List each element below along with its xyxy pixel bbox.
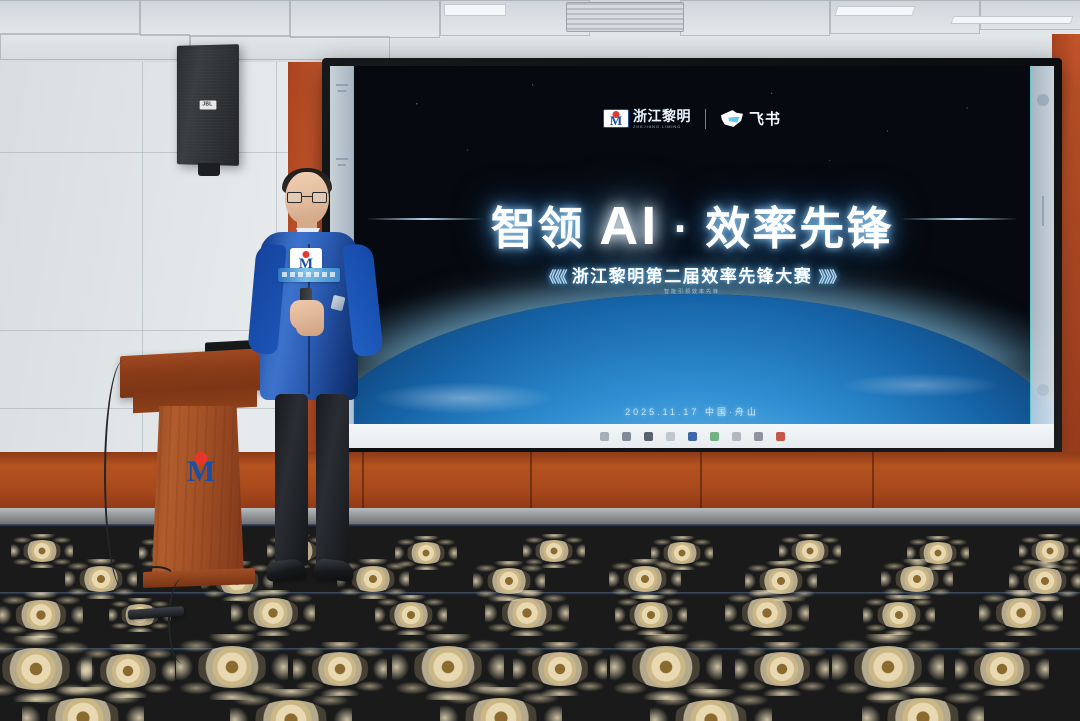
ceiling-light [834,6,915,16]
carpet-medallion [972,652,1032,686]
m-mark-icon [603,109,629,128]
brand-name-en: ZHEJIANG LIMING [633,125,691,129]
carpet-medallion [500,598,554,628]
carpet-medallion [622,566,668,592]
carpet-medallion [630,646,702,688]
name-badge [278,268,340,282]
star-icon[interactable] [666,432,675,441]
ceiling-tile [290,0,440,38]
settings-icon[interactable] [754,432,763,441]
glasses-bridge [302,196,312,197]
carpet-medallion [22,540,62,562]
carpet-medallion [876,602,922,628]
display-right-sidebar[interactable] [1030,66,1054,424]
carpet-medallion [894,566,940,592]
carpet-medallion [628,602,674,628]
slide-subtitle-mini: 智能引领效率先锋 [330,288,1054,295]
feishu-name: 飞书 [749,108,781,129]
floor-cable [168,578,198,664]
carpet-medallion [740,598,794,628]
ceiling-tile [140,0,290,36]
browser-icon[interactable] [710,432,719,441]
slide-subtitle: 浙江黎明第二届效率先锋大赛 [572,267,813,286]
carpet-medallion [790,540,830,562]
floor-wire-loop [136,566,176,590]
menu-icon[interactable] [337,90,346,92]
jbl-speaker: JBL [177,44,239,166]
carpet-medallion [852,646,924,688]
carpet-medallion [252,700,330,721]
wood-grain [152,406,244,574]
pen-icon[interactable] [622,432,631,441]
note-icon[interactable] [644,432,653,441]
carpet-medallion [44,698,122,721]
scroll-handle[interactable] [1042,196,1044,226]
display-taskbar[interactable] [330,424,1054,448]
title-ai: AI [599,196,659,256]
wall-seam [0,152,330,153]
wainscot-seam [872,452,874,514]
slide-logo-row: 浙江黎明 ZHEJIANG LIMING 飞书 [330,108,1054,129]
ceiling-tile [0,34,190,60]
glasses-lens-left [287,192,302,203]
carpet-medallion [0,648,72,690]
glasses-lens-right [312,192,327,203]
presentation-slide: 浙江黎明 ZHEJIANG LIMING 飞书 智领 AI · 效率先锋 [330,66,1054,448]
zhejiang-liming-logo: 浙江黎明 ZHEJIANG LIMING [603,109,691,129]
menu-icon[interactable] [336,84,348,86]
back-icon[interactable] [336,158,348,160]
audio-cable [104,360,144,590]
back-icon[interactable] [338,164,346,166]
carpet-medallion [1030,540,1070,562]
glasses [287,192,327,203]
slide-subtitle-row: 《《《 浙江黎明第二届效率先锋大赛 》》》 [330,262,1054,287]
carpet-medallion [196,646,268,688]
speaker-mount-bracket [198,163,220,176]
hand-lower [296,312,324,336]
podium-body [152,406,244,574]
carpet-medallion [388,602,434,628]
carpet-medallion [884,698,962,721]
led-display-screen[interactable]: 浙江黎明 ZHEJIANG LIMING 飞书 智领 AI · 效率先锋 [330,66,1054,448]
wainscot-seam [530,452,532,514]
carpet-medallion [462,698,540,721]
carpet-medallion [530,652,590,686]
ceiling-tile [680,0,830,36]
slide-date-location: 2025.11.17 中国·舟山 [330,405,1054,418]
ceiling-light [444,4,506,16]
leg-left [275,394,308,566]
slide-title: 智领 AI · 效率先锋 [330,192,1054,257]
carpet-medallion [412,646,484,688]
title-part-1: 智领 [491,203,585,254]
title-dot: · [674,203,691,254]
podium-logo: M [178,452,224,486]
wainscot-seam [700,452,702,514]
carpet-medallion [310,652,370,686]
ceiling-air-vent [566,2,684,32]
cursor-icon[interactable] [600,432,609,441]
conference-room-photo: JBL 浙江黎明 ZHEJIANG LIMING [0,0,1080,721]
ceiling-light [950,16,1073,24]
jbl-logo: JBL [199,100,216,109]
record-icon[interactable] [776,432,785,441]
carpet-medallion [752,652,812,686]
logo-divider [705,109,706,129]
feishu-bird-icon [720,109,744,129]
carpet-medallion [994,598,1048,628]
carpet-medallion [534,540,574,562]
app-icon[interactable] [688,432,697,441]
presenter: M [240,172,388,632]
logo-m-letter: M [178,458,224,486]
brand-name-cn: 浙江黎明 [633,109,691,123]
power-icon[interactable] [1037,94,1049,106]
feishu-logo: 飞书 [720,108,781,129]
ceiling-tile [980,0,1080,30]
title-part-2: 效率先锋 [705,203,893,254]
ceiling-tile [0,0,140,34]
carpet-medallion [406,542,446,564]
carpet-medallion [672,700,750,721]
leg-right [316,394,349,566]
trousers [274,394,350,566]
chevrons-right: 》》》 [818,269,842,286]
clock-icon[interactable] [732,432,741,441]
warning-icon[interactable] [1037,384,1049,396]
carpet-medallion [14,600,68,630]
carpet-medallion [98,654,158,688]
chevrons-left: 《《《 [542,269,566,286]
shoe-left [265,558,307,582]
